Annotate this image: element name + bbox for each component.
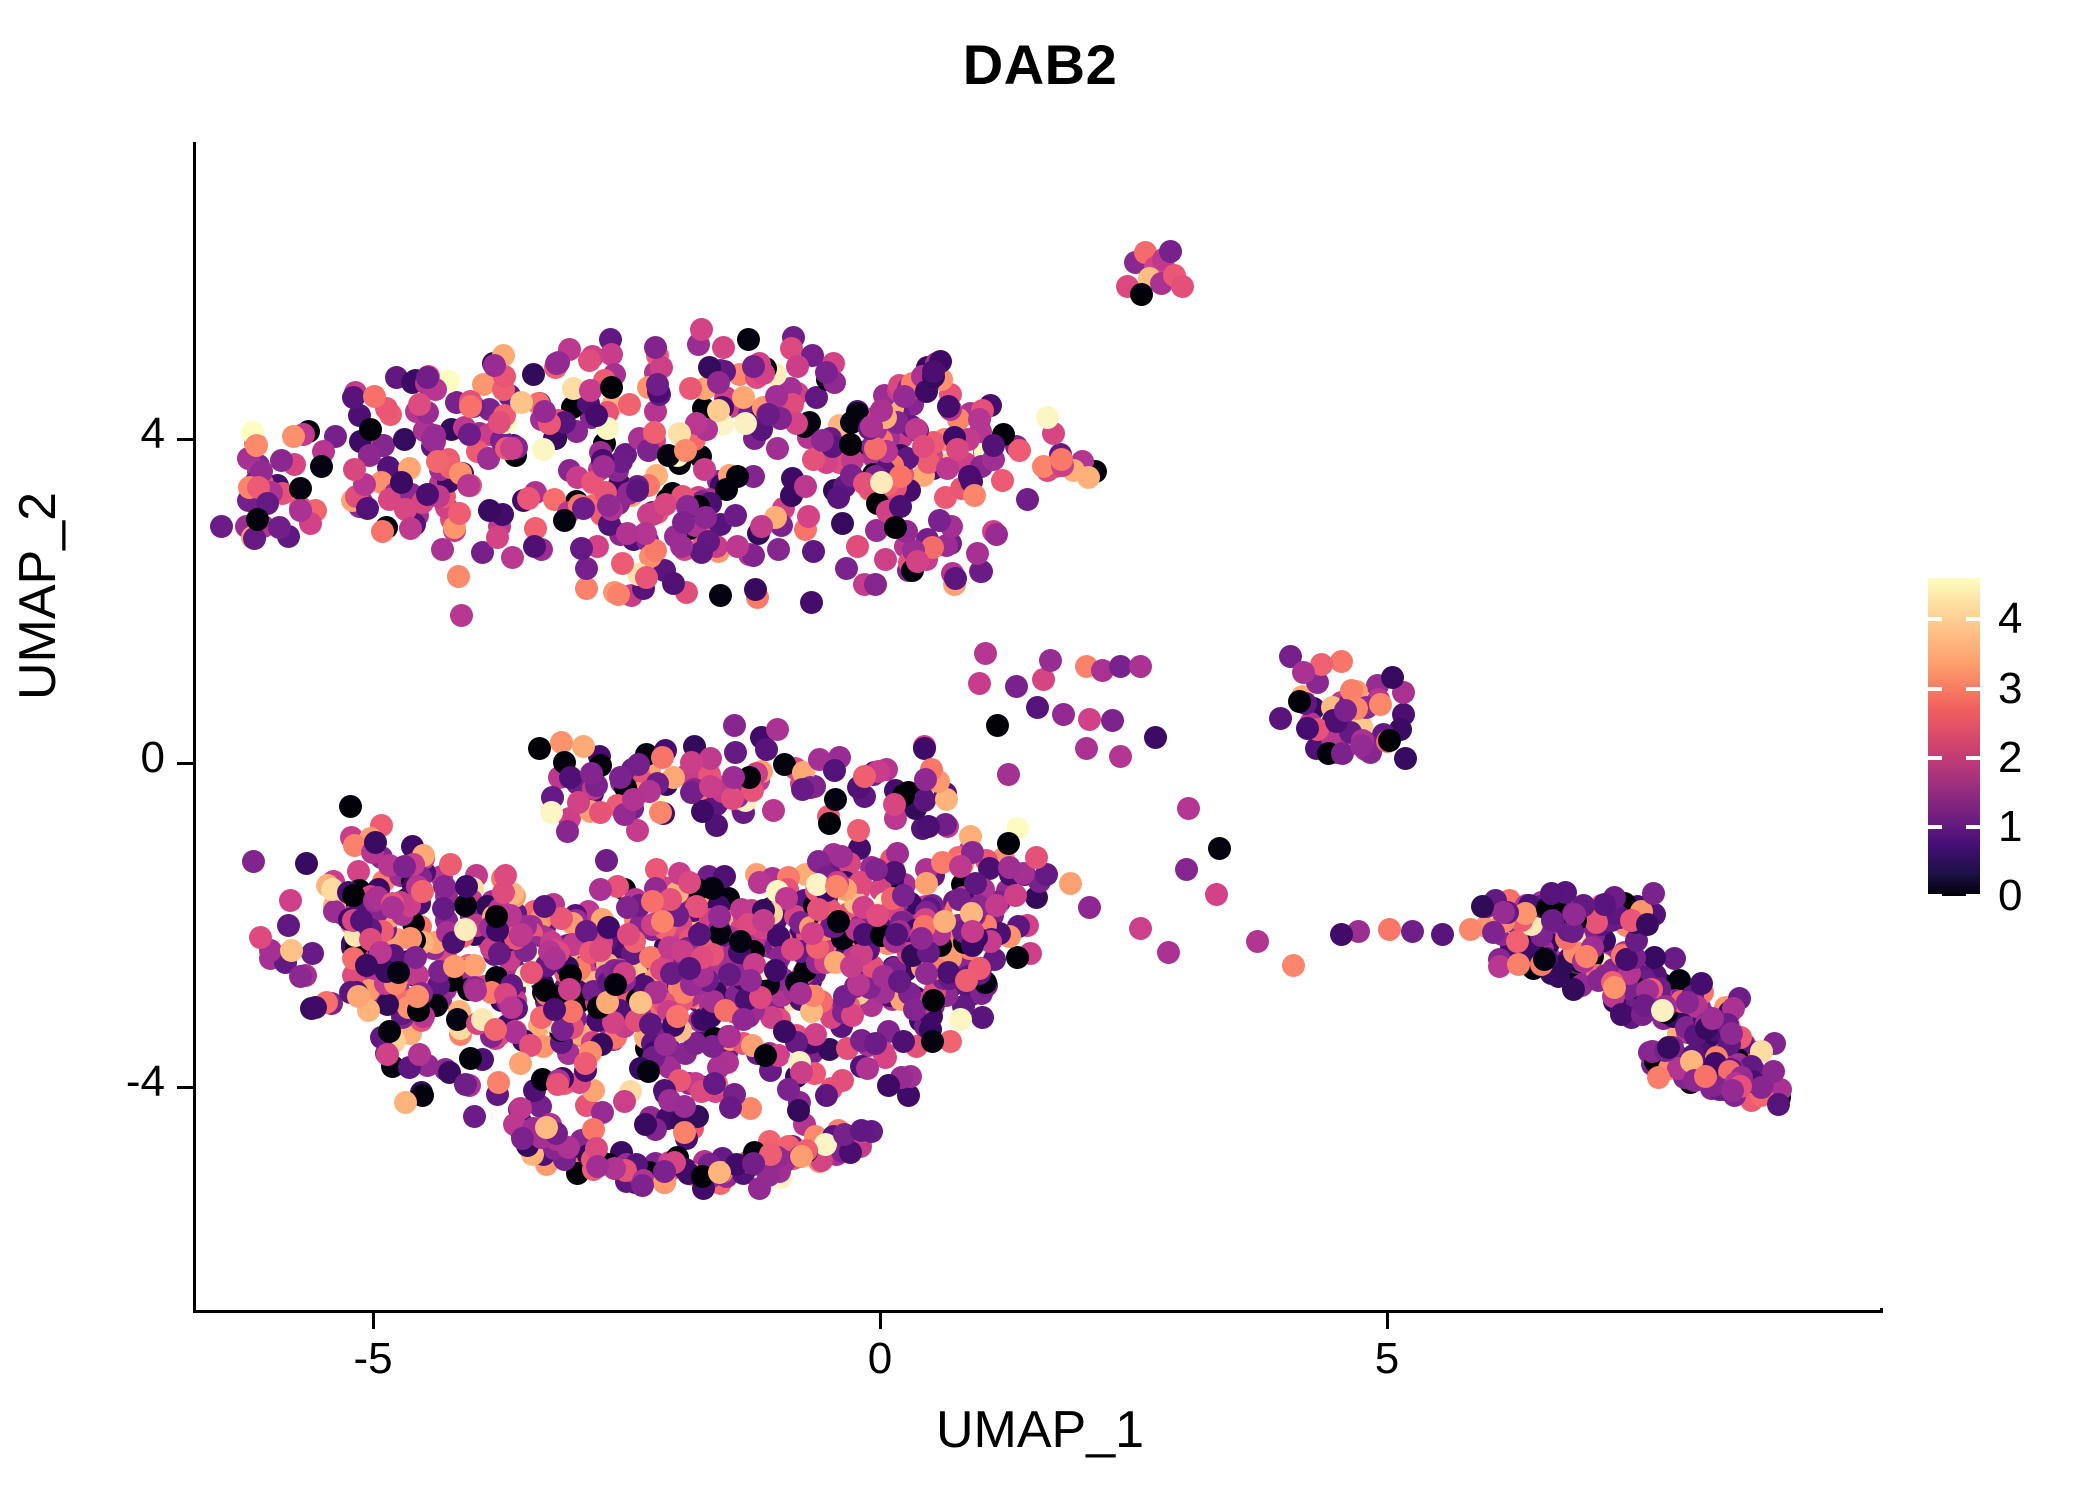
scatter-point <box>509 1052 532 1075</box>
scatter-point <box>946 438 969 461</box>
scatter-point <box>831 512 854 535</box>
scatter-point <box>1593 893 1616 916</box>
scatter-point <box>595 849 618 872</box>
scatter-point <box>1078 708 1101 731</box>
scatter-point <box>1647 1066 1670 1089</box>
y-axis-label: UMAP_2 <box>8 296 68 896</box>
scatter-point <box>390 471 413 494</box>
scatter-point <box>654 493 677 516</box>
scatter-point <box>815 1084 838 1107</box>
scatter-point <box>915 872 938 895</box>
scatter-point <box>721 787 744 810</box>
scatter-point <box>556 820 579 843</box>
scatter-point <box>991 469 1014 492</box>
scatter-point <box>674 439 697 462</box>
scatter-point <box>856 1057 879 1080</box>
scatter-point <box>339 795 362 818</box>
scatter-point <box>1177 797 1200 820</box>
scatter-point <box>986 714 1009 737</box>
scatter-point <box>522 363 545 386</box>
scatter-point <box>699 747 722 770</box>
scatter-point <box>913 789 936 812</box>
scatter-point <box>408 393 431 416</box>
scatter-point <box>662 572 685 595</box>
scatter-point <box>364 831 387 854</box>
scatter-point <box>431 538 454 561</box>
legend-tick-label: 1 <box>1998 805 2022 849</box>
scatter-point <box>279 889 302 912</box>
x-tick-label: -5 <box>293 1334 453 1384</box>
scatter-point <box>767 538 790 561</box>
x-tick-mark <box>372 1313 375 1329</box>
scatter-point <box>1052 703 1075 726</box>
scatter-point <box>249 926 272 949</box>
scatter-point <box>355 954 378 977</box>
scatter-point <box>888 970 911 993</box>
scatter-point <box>416 366 439 389</box>
scatter-point <box>381 896 404 919</box>
scatter-point <box>1394 747 1417 770</box>
scatter-point <box>448 502 471 525</box>
scatter-point <box>1663 947 1686 970</box>
y-tick-mark <box>177 762 193 765</box>
scatter-point <box>794 475 817 498</box>
scatter-point <box>790 1145 813 1168</box>
scatter-point <box>1657 1036 1680 1059</box>
x-axis-label: UMAP_1 <box>0 1400 2080 1460</box>
x-tick-label: 5 <box>1307 1334 1467 1384</box>
scatter-point <box>644 336 667 359</box>
scatter-point <box>835 557 858 580</box>
scatter-point <box>1269 707 1292 730</box>
scatter-point <box>1292 661 1315 684</box>
umap-feature-plot: DAB2 -505 40-4 UMAP_1 UMAP_2 43210 <box>0 0 2100 1500</box>
scatter-point <box>634 1113 657 1136</box>
scatter-point <box>1642 882 1665 905</box>
scatter-point <box>1541 909 1564 932</box>
scatter-point <box>864 573 887 596</box>
scatter-point <box>245 434 268 457</box>
scatter-point <box>827 910 850 933</box>
scatter-point <box>651 746 674 769</box>
scatter-point <box>280 939 303 962</box>
scatter-point <box>846 535 869 558</box>
scatter-point <box>673 1121 696 1144</box>
scatter-point <box>1205 883 1228 906</box>
scatter-point <box>732 386 755 409</box>
scatter-point <box>974 642 997 665</box>
scatter-point <box>589 939 612 962</box>
scatter-point <box>823 759 846 782</box>
scatter-point <box>864 437 887 460</box>
scatter-point <box>268 516 291 539</box>
scatter-point <box>559 766 582 789</box>
scatter-point <box>616 896 639 919</box>
scatter-point <box>1401 920 1424 943</box>
scatter-point <box>1676 991 1699 1014</box>
scatter-point <box>847 819 870 842</box>
scatter-point <box>949 855 972 878</box>
scatter-point <box>755 738 778 761</box>
scatter-point <box>1575 945 1598 968</box>
scatter-point <box>426 450 449 473</box>
scatter-point <box>1208 837 1231 860</box>
scatter-point <box>724 741 747 764</box>
scatter-point <box>376 1043 399 1066</box>
scatter-plot-panel <box>196 142 1880 1310</box>
legend-tick-mark <box>1928 825 1942 829</box>
scatter-point <box>1246 930 1269 953</box>
scatter-point <box>762 799 785 822</box>
scatter-point <box>723 714 746 737</box>
scatter-point <box>839 433 862 456</box>
scatter-point <box>1750 1076 1773 1099</box>
scatter-point <box>1694 1065 1717 1088</box>
scatter-point <box>694 506 717 529</box>
scatter-point <box>777 1078 800 1101</box>
scatter-point <box>1006 946 1029 969</box>
scatter-point <box>739 969 762 992</box>
scatter-point <box>641 890 664 913</box>
scatter-point <box>1533 948 1556 971</box>
scatter-point <box>752 909 775 932</box>
scatter-point <box>535 1116 558 1139</box>
scatter-point <box>1109 655 1132 678</box>
y-tick-mark <box>177 1086 193 1089</box>
scatter-point <box>690 541 713 564</box>
scatter-point <box>1330 923 1353 946</box>
scatter-point <box>646 373 669 396</box>
scatter-point <box>865 858 888 881</box>
scatter-point <box>486 526 509 549</box>
scatter-point <box>754 1044 777 1067</box>
scatter-point <box>885 923 908 946</box>
scatter-point <box>892 1030 915 1053</box>
scatter-point <box>997 832 1020 855</box>
legend-tick-mark <box>1966 617 1980 621</box>
page-title: DAB2 <box>0 32 2080 97</box>
scatter-point <box>722 766 745 789</box>
scatter-point <box>853 765 876 788</box>
scatter-point <box>649 801 672 824</box>
scatter-point <box>787 1099 810 1122</box>
scatter-point <box>1159 240 1182 263</box>
scatter-point <box>532 438 555 461</box>
scatter-point <box>520 961 543 984</box>
scatter-point <box>421 428 444 451</box>
scatter-point <box>1721 1079 1744 1102</box>
scatter-point <box>1050 448 1073 471</box>
scatter-point <box>1482 921 1505 944</box>
scatter-point <box>1507 953 1530 976</box>
scatter-point <box>574 1052 597 1075</box>
scatter-point <box>484 1018 507 1041</box>
scatter-point <box>517 487 540 510</box>
scatter-point <box>631 1174 654 1197</box>
scatter-point <box>654 1033 677 1056</box>
scatter-point <box>611 552 634 575</box>
scatter-point <box>1130 283 1153 306</box>
scatter-point <box>997 763 1020 786</box>
scatter-point <box>575 557 598 580</box>
scatter-point <box>510 391 533 414</box>
y-tick-label: -4 <box>0 1057 165 1107</box>
scatter-point <box>310 455 333 478</box>
scatter-point <box>447 565 470 588</box>
scatter-point <box>371 520 394 543</box>
scatter-point <box>910 927 933 950</box>
scatter-point <box>543 947 566 970</box>
scatter-point <box>807 898 830 921</box>
scatter-point <box>719 1096 742 1119</box>
scatter-point <box>712 336 735 359</box>
scatter-point <box>968 408 991 431</box>
scatter-point <box>304 996 327 1019</box>
scatter-point <box>1369 693 1392 716</box>
scatter-point <box>750 515 773 538</box>
scatter-point <box>600 376 623 399</box>
scatter-point <box>1005 675 1028 698</box>
legend-tick-mark <box>1966 894 1980 898</box>
scatter-point <box>1431 923 1454 946</box>
scatter-point <box>617 923 640 946</box>
scatter-point <box>670 535 693 558</box>
scatter-point <box>454 1073 477 1096</box>
scatter-point <box>463 1105 486 1128</box>
scatter-point <box>1651 999 1674 1022</box>
color-legend: 43210 <box>1928 578 1980 896</box>
scatter-point <box>356 497 379 520</box>
scatter-point <box>971 1006 994 1029</box>
scatter-point <box>1471 895 1494 918</box>
scatter-point <box>922 989 945 1012</box>
scatter-point <box>874 548 897 571</box>
scatter-point <box>458 423 481 446</box>
scatter-point <box>589 878 612 901</box>
scatter-point <box>523 535 546 558</box>
scatter-point <box>949 1008 972 1031</box>
scatter-point <box>830 845 853 868</box>
scatter-point <box>543 998 566 1021</box>
scatter-point <box>1032 668 1055 691</box>
scatter-point <box>450 604 473 627</box>
scatter-point <box>732 1008 755 1031</box>
scatter-point <box>690 318 713 341</box>
scatter-point <box>459 395 482 418</box>
scatter-point <box>1144 726 1167 749</box>
scatter-point <box>639 1013 662 1036</box>
scatter-point <box>1109 745 1132 768</box>
scatter-point <box>786 355 809 378</box>
scatter-point <box>270 449 293 472</box>
scatter-point <box>406 985 429 1008</box>
scatter-point <box>693 458 716 481</box>
scatter-point <box>998 856 1021 879</box>
scatter-point <box>922 360 945 383</box>
scatter-point <box>688 923 711 946</box>
scatter-point <box>968 672 991 695</box>
scatter-point <box>394 1091 417 1114</box>
scatter-point <box>1636 913 1659 936</box>
scatter-point <box>558 978 581 1001</box>
scatter-point <box>613 1090 636 1113</box>
scatter-point <box>1767 1093 1790 1116</box>
scatter-point <box>797 505 820 528</box>
scatter-point <box>1282 954 1305 977</box>
scatter-point <box>607 583 630 606</box>
x-tick-mark <box>1386 1313 1389 1329</box>
scatter-point <box>824 788 847 811</box>
scatter-point <box>801 922 824 945</box>
scatter-point <box>912 435 935 458</box>
scatter-point <box>892 884 915 907</box>
scatter-point <box>726 535 749 558</box>
scatter-point <box>454 918 477 941</box>
scatter-point <box>800 591 823 614</box>
legend-tick-mark <box>1928 687 1942 691</box>
scatter-point <box>282 425 305 448</box>
scatter-point <box>1026 696 1049 719</box>
legend-tick-mark <box>1966 756 1980 760</box>
scatter-point <box>866 904 889 927</box>
scatter-point <box>1175 858 1198 881</box>
scatter-point <box>678 957 701 980</box>
scatter-point <box>488 411 511 434</box>
scatter-point <box>487 1071 510 1094</box>
scatter-point <box>703 1072 726 1095</box>
scatter-point <box>629 991 652 1014</box>
x-tick-mark <box>879 1313 882 1329</box>
scatter-point <box>766 718 789 741</box>
scatter-point <box>1101 709 1124 732</box>
scatter-point <box>616 522 639 545</box>
scatter-point <box>1381 666 1404 689</box>
scatter-point <box>1075 737 1098 760</box>
scatter-point <box>827 486 850 509</box>
legend-tick-label: 3 <box>1998 667 2022 711</box>
scatter-point <box>672 511 695 534</box>
scatter-point <box>295 852 318 875</box>
scatter-point <box>718 963 741 986</box>
scatter-point <box>464 979 487 1002</box>
scatter-point <box>913 737 936 760</box>
scatter-point <box>673 1095 696 1118</box>
scatter-point <box>510 923 533 946</box>
colorbar-gradient <box>1928 578 1980 896</box>
scatter-point <box>818 812 841 835</box>
legend-tick-mark <box>1928 756 1942 760</box>
scatter-point <box>618 393 641 416</box>
y-tick-mark <box>177 438 193 441</box>
scatter-point <box>889 495 912 518</box>
scatter-point <box>781 938 804 961</box>
scatter-point <box>915 962 938 985</box>
scatter-point <box>1078 896 1101 919</box>
scatter-point <box>635 566 658 589</box>
scatter-point <box>1378 729 1401 752</box>
scatter-point <box>579 379 602 402</box>
scatter-point <box>764 959 787 982</box>
scatter-point <box>724 504 747 527</box>
scatter-point <box>501 546 524 569</box>
scatter-point <box>766 437 789 460</box>
scatter-point <box>457 474 480 497</box>
scatter-point <box>678 871 701 894</box>
scatter-point <box>1171 275 1194 298</box>
scatter-point <box>585 404 608 427</box>
scatter-point <box>860 415 883 438</box>
x-tick-label: 0 <box>800 1334 960 1384</box>
scatter-point <box>572 735 595 758</box>
scatter-point <box>1459 918 1482 941</box>
scatter-point <box>985 523 1008 546</box>
scatter-point <box>459 1047 482 1070</box>
legend-tick-mark <box>1966 825 1980 829</box>
scatter-point <box>301 942 324 965</box>
scatter-point <box>1016 488 1039 511</box>
legend-tick-mark <box>1966 687 1980 691</box>
scatter-point <box>411 880 434 903</box>
scatter-point <box>864 1032 887 1055</box>
scatter-point <box>1008 439 1031 462</box>
scatter-point <box>1334 699 1357 722</box>
scatter-point <box>567 791 590 814</box>
scatter-point <box>533 895 556 918</box>
scatter-point <box>533 400 556 423</box>
scatter-point <box>734 412 757 435</box>
scatter-point <box>1025 846 1048 869</box>
scatter-point <box>679 377 702 400</box>
scatter-point <box>1059 872 1082 895</box>
scatter-point <box>802 540 825 563</box>
scatter-point <box>709 584 732 607</box>
scatter-point <box>1378 918 1401 941</box>
scatter-point <box>1296 717 1319 740</box>
scatter-point <box>1129 917 1152 940</box>
scatter-point <box>589 801 612 824</box>
scatter-point <box>825 875 848 898</box>
scatter-point <box>347 985 370 1008</box>
scatter-point <box>242 850 265 873</box>
scatter-point <box>378 1020 401 1043</box>
scatter-point <box>653 1160 676 1183</box>
scatter-point <box>597 494 620 517</box>
legend-tick-label: 2 <box>1998 736 2022 780</box>
scatter-point <box>399 517 422 540</box>
scatter-point <box>528 737 551 760</box>
legend-tick-mark <box>1928 617 1942 621</box>
scatter-point <box>443 955 466 978</box>
scatter-point <box>387 961 410 984</box>
scatter-point <box>1039 649 1062 672</box>
scatter-point <box>485 905 508 928</box>
scatter-point <box>343 458 366 481</box>
scatter-point <box>570 537 593 560</box>
scatter-point <box>626 479 649 502</box>
scatter-point <box>277 914 300 937</box>
legend-tick-label: 0 <box>1998 874 2022 918</box>
scatter-point <box>546 1073 569 1096</box>
scatter-point <box>359 418 382 441</box>
scatter-point <box>1004 884 1027 907</box>
legend-tick-mark <box>1928 894 1942 898</box>
scatter-point <box>1701 1007 1724 1030</box>
scatter-point <box>651 910 674 933</box>
scatter-point <box>575 577 598 600</box>
scatter-point <box>737 328 760 351</box>
scatter-point <box>478 499 501 522</box>
scatter-point <box>917 815 940 838</box>
